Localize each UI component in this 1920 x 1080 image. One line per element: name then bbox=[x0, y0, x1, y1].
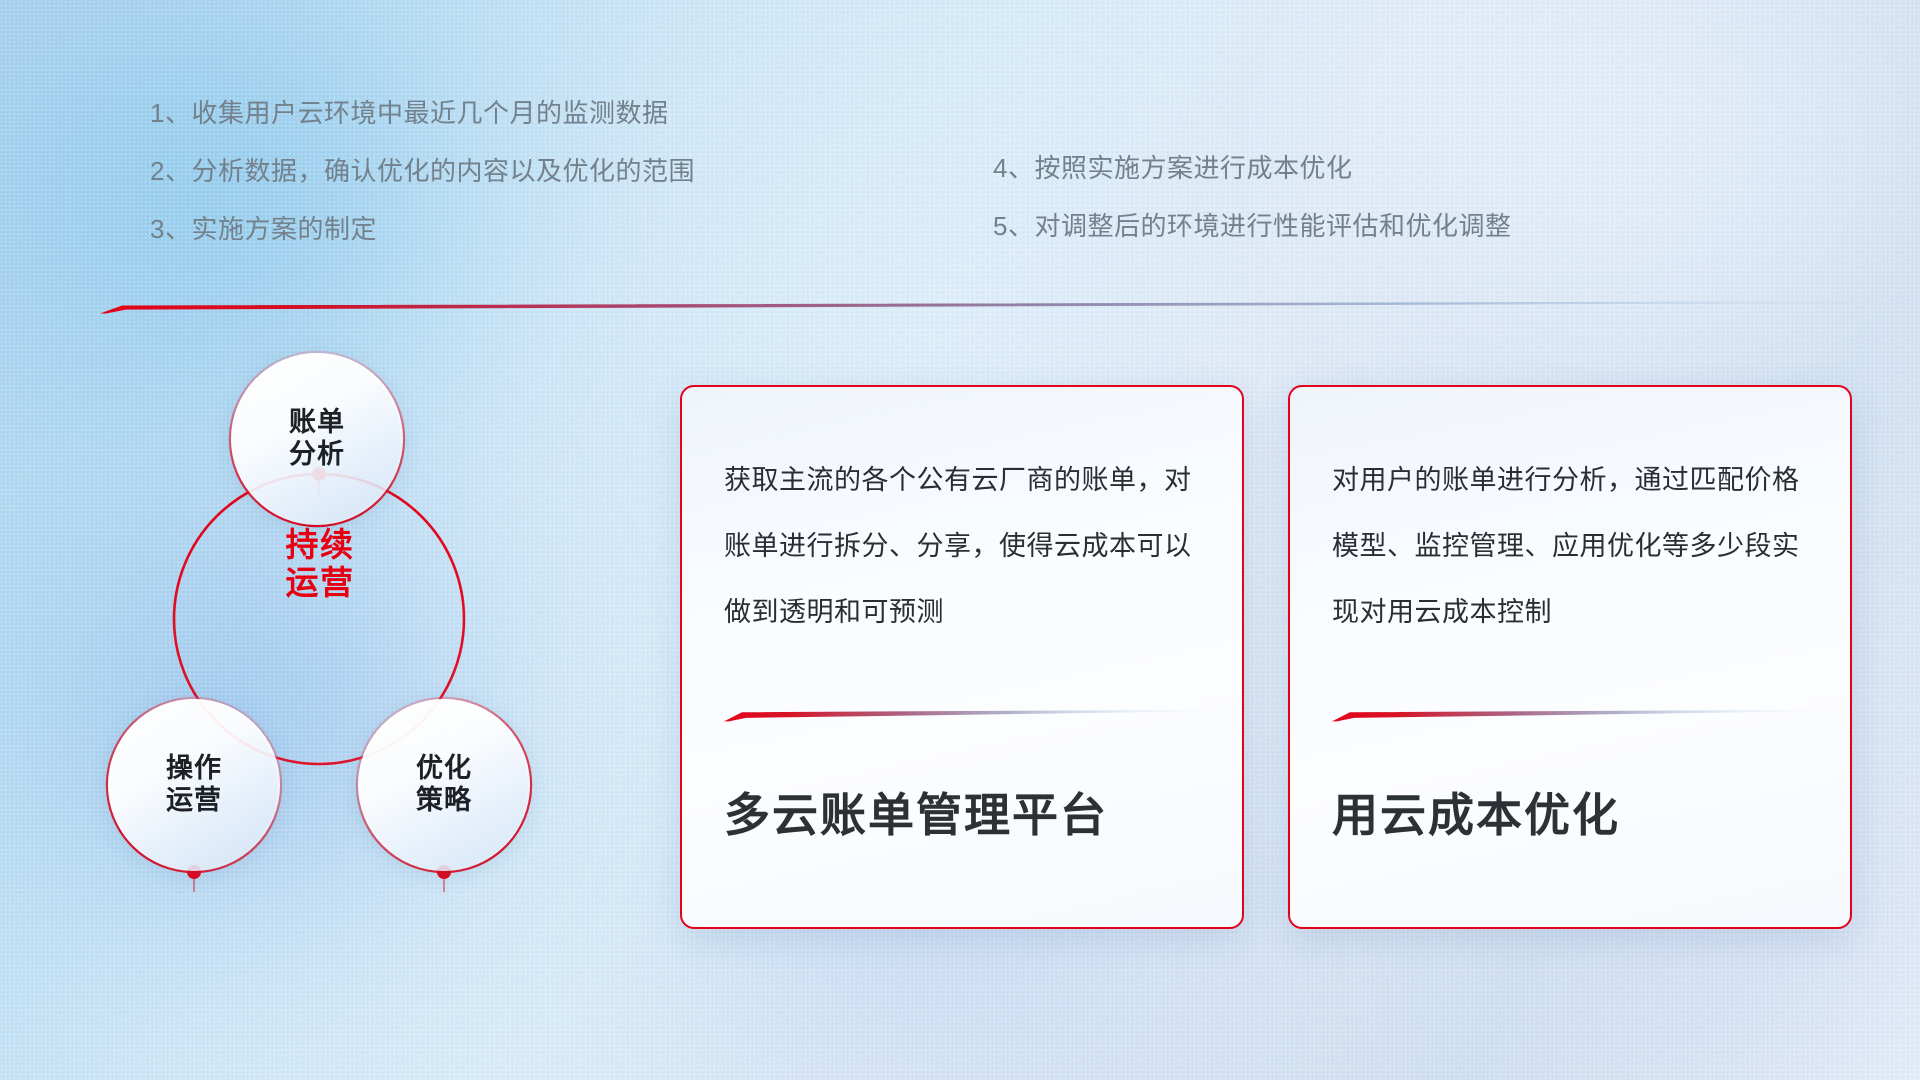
venn-center-label-line1: 持续 bbox=[265, 526, 375, 564]
venn-bubble-billing-analysis[interactable]: 账单 分析 bbox=[231, 353, 403, 525]
steps-list-left: 1、收集用户云环境中最近几个月的监测数据 2、分析数据，确认优化的内容以及优化的… bbox=[150, 100, 695, 274]
venn-bubble-label-line2: 分析 bbox=[289, 439, 345, 471]
step-item: 5、对调整后的环境进行性能评估和优化调整 bbox=[993, 213, 1511, 239]
card-divider-rule bbox=[1332, 709, 1808, 722]
venn-bubble-operations[interactable]: 操作 运营 bbox=[108, 699, 280, 871]
venn-bubble-label-line2: 运营 bbox=[166, 785, 222, 817]
card-body-text: 对用户的账单进行分析，通过匹配价格模型、监控管理、应用优化等多少段实现对用云成本… bbox=[1332, 447, 1820, 645]
step-item: 1、收集用户云环境中最近几个月的监测数据 bbox=[150, 100, 695, 126]
step-item: 3、实施方案的制定 bbox=[150, 216, 695, 242]
info-card-multicloud-billing[interactable]: 获取主流的各个公有云厂商的账单，对账单进行拆分、分享，使得云成本可以做到透明和可… bbox=[680, 385, 1244, 929]
steps-list-right: 4、按照实施方案进行成本优化 5、对调整后的环境进行性能评估和优化调整 bbox=[993, 155, 1511, 271]
venn-center-label-line2: 运营 bbox=[265, 564, 375, 602]
venn-diagram: 账单 分析 操作 运营 优化 策略 持续 运营 bbox=[90, 330, 650, 930]
card-body-text: 获取主流的各个公有云厂商的账单，对账单进行拆分、分享，使得云成本可以做到透明和可… bbox=[724, 447, 1212, 645]
venn-bubble-label-line1: 优化 bbox=[416, 753, 472, 785]
venn-center-label: 持续 运营 bbox=[265, 526, 375, 603]
step-item: 4、按照实施方案进行成本优化 bbox=[993, 155, 1511, 181]
venn-bubble-label-line2: 策略 bbox=[416, 785, 472, 817]
header-divider-rule bbox=[100, 300, 1900, 314]
card-title: 用云成本优化 bbox=[1332, 779, 1826, 845]
venn-bubble-optimization-strategy[interactable]: 优化 策略 bbox=[358, 699, 530, 871]
step-item: 2、分析数据，确认优化的内容以及优化的范围 bbox=[150, 158, 695, 184]
venn-bubble-label-line1: 操作 bbox=[166, 753, 222, 785]
card-divider-rule bbox=[724, 709, 1200, 722]
venn-bubble-label-line1: 账单 bbox=[289, 407, 345, 439]
info-card-cloud-cost-optimization[interactable]: 对用户的账单进行分析，通过匹配价格模型、监控管理、应用优化等多少段实现对用云成本… bbox=[1288, 385, 1852, 929]
card-title: 多云账单管理平台 bbox=[724, 779, 1218, 845]
